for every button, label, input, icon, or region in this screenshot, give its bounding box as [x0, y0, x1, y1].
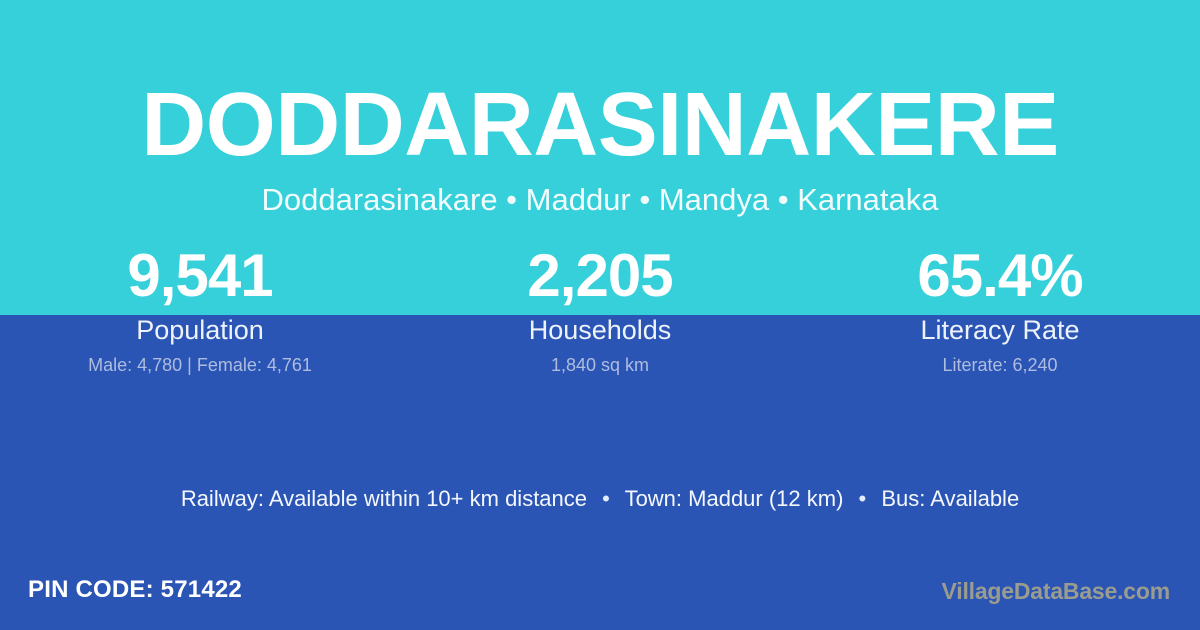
- page-title: DODDARASINAKERE: [0, 73, 1200, 177]
- stat-literacy-rate: 65.4% Literacy Rate Literate: 6,240: [800, 240, 1200, 376]
- stat-value-households: 2,205: [400, 240, 800, 312]
- stat-value-literacy-rate: 65.4%: [800, 240, 1200, 312]
- connectivity-info-row: Railway: Available within 10+ km distanc…: [0, 483, 1200, 515]
- stat-label-households: Households: [400, 314, 800, 346]
- stat-sub-population: Male: 4,780 | Female: 4,761: [0, 354, 400, 376]
- stat-population: 9,541 Population Male: 4,780 | Female: 4…: [0, 240, 400, 376]
- stat-label-literacy-rate: Literacy Rate: [800, 314, 1200, 346]
- stat-value-population: 9,541: [0, 240, 400, 312]
- pin-code: PIN CODE: 571422: [28, 575, 242, 605]
- stat-sub-households: 1,840 sq km: [400, 354, 800, 376]
- stats-row: 9,541 Population Male: 4,780 | Female: 4…: [0, 240, 1200, 376]
- info-railway: Railway: Available within 10+ km distanc…: [181, 486, 587, 511]
- info-town: Town: Maddur (12 km): [625, 486, 844, 511]
- stat-households: 2,205 Households 1,840 sq km: [400, 240, 800, 376]
- stat-label-population: Population: [0, 314, 400, 346]
- info-separator-1: •: [593, 483, 619, 515]
- card-footer: PIN CODE: 571422 VillageDataBase.com: [0, 570, 1200, 630]
- info-separator-2: •: [850, 483, 876, 515]
- village-info-card: DODDARASINAKERE Doddarasinakare • Maddur…: [0, 0, 1200, 630]
- breadcrumb: Doddarasinakare • Maddur • Mandya • Karn…: [0, 180, 1200, 220]
- info-bus: Bus: Available: [881, 486, 1019, 511]
- stat-sub-literacy-rate: Literate: 6,240: [800, 354, 1200, 376]
- brand-watermark: VillageDataBase.com: [942, 576, 1170, 606]
